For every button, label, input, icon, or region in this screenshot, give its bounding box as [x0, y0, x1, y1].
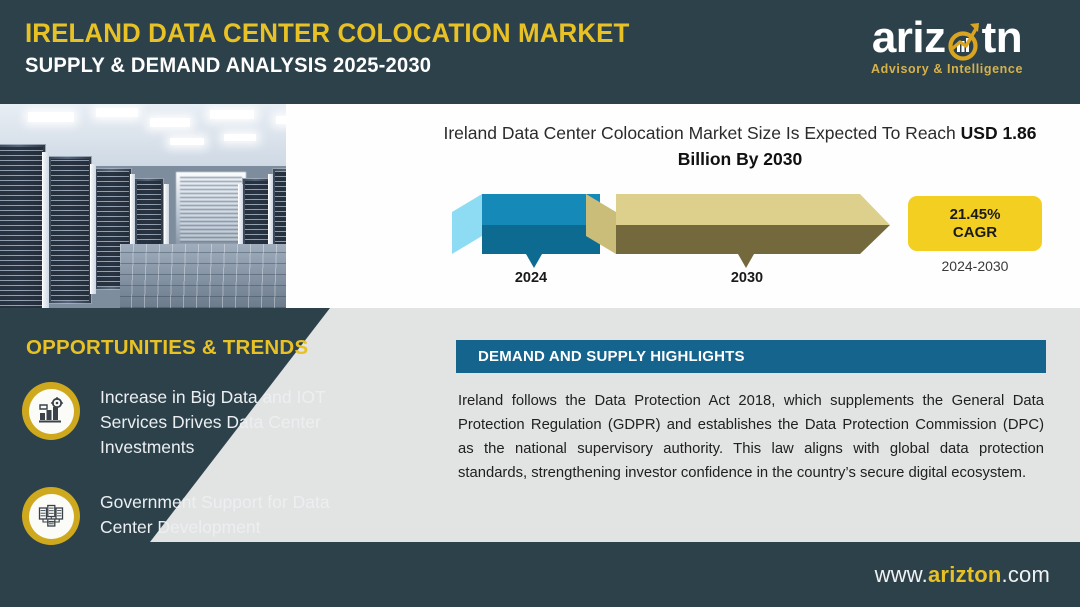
opportunity-text: Government Support for Data Center Devel…: [100, 487, 360, 540]
opportunity-item: Government Support for Data Center Devel…: [22, 487, 360, 545]
footer-website-url[interactable]: www.arizton.com: [875, 562, 1050, 588]
highlights-heading-bar: DEMAND AND SUPPLY HIGHLIGHTS: [456, 340, 1046, 373]
market-size-chart: 2024 2030 21.45% CAGR 2024-2030: [0, 0, 1080, 204]
opportunity-icon-ring: [22, 382, 80, 440]
opportunity-text: Increase in Big Data and IOT Services Dr…: [100, 382, 360, 460]
opportunity-item: Increase in Big Data and IOT Services Dr…: [22, 382, 360, 460]
bar-2030-top-face: [616, 194, 860, 225]
cagr-period: 2024-2030: [908, 258, 1042, 274]
bar-2024-top-face: [482, 194, 600, 225]
infographic-page: IRELAND DATA CENTER COLOCATION MARKET SU…: [0, 0, 1080, 607]
raised-floor: [120, 244, 300, 308]
bar-2024-left-face: [452, 194, 482, 254]
url-brand: arizton: [928, 562, 1002, 587]
bar-2030-bottom-face: [616, 225, 860, 254]
bar-2030-tip-top: [860, 194, 890, 225]
server-racks-network-icon: [29, 494, 74, 539]
bar-2030-label: 2030: [692, 270, 802, 286]
bar-2030-pointer: [738, 254, 754, 268]
opportunity-icon-ring: [22, 487, 80, 545]
bar-2030: [586, 194, 890, 254]
opportunities-title: OPPORTUNITIES & TRENDS: [26, 336, 308, 360]
cagr-badge: 21.45% CAGR: [908, 196, 1042, 251]
highlights-body-text: Ireland follows the Data Protection Act …: [458, 390, 1044, 486]
cagr-label: CAGR: [953, 224, 997, 242]
bar-2024: [452, 194, 600, 254]
bar-chart-gear-icon: [29, 389, 74, 434]
bar-2024-bottom-face: [482, 225, 600, 254]
bar-2030-left-face: [586, 194, 616, 254]
bar-2030-tip-bottom: [860, 225, 890, 254]
bar-2024-label: 2024: [476, 270, 586, 286]
cagr-value: 21.45%: [950, 206, 1001, 224]
highlights-heading: DEMAND AND SUPPLY HIGHLIGHTS: [478, 348, 745, 365]
bar-2024-pointer: [526, 254, 542, 268]
url-suffix: .com: [1002, 562, 1050, 587]
url-prefix: www.: [875, 562, 928, 587]
